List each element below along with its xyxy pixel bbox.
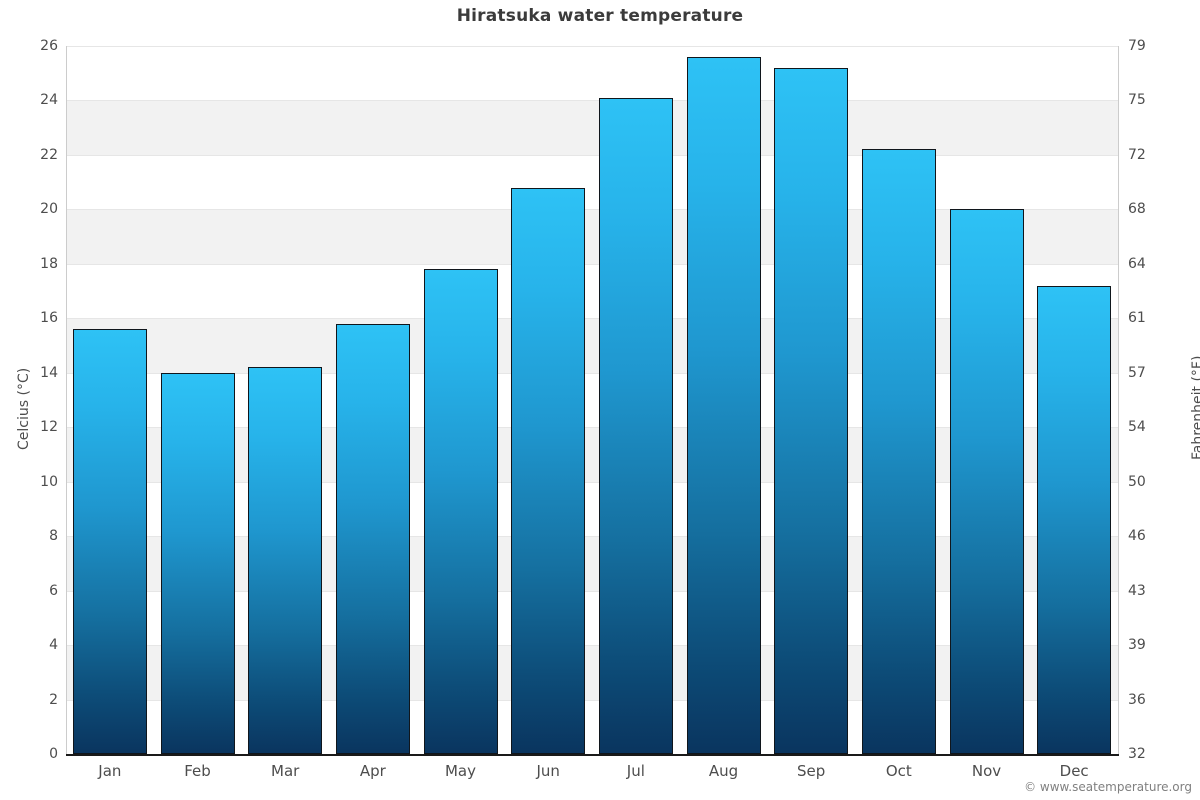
water-temperature-chart: Hiratsuka water temperature 024681012141… bbox=[0, 0, 1200, 800]
copyright-credit: © www.seatemperature.org bbox=[1024, 780, 1192, 794]
y-tick-label-fahrenheit: 64 bbox=[1128, 257, 1146, 271]
y-tick-label-celsius: 4 bbox=[8, 638, 58, 652]
x-tick-label: Oct bbox=[859, 762, 939, 780]
y-tick-label-fahrenheit: 43 bbox=[1128, 584, 1146, 598]
y-tick-label-celsius: 6 bbox=[8, 584, 58, 598]
x-tick-label: Aug bbox=[684, 762, 764, 780]
bar bbox=[161, 373, 235, 754]
y-axis-right-line bbox=[1118, 46, 1119, 755]
x-tick-label: Mar bbox=[245, 762, 325, 780]
bar bbox=[511, 188, 585, 754]
bar bbox=[599, 98, 673, 754]
y-tick-label-fahrenheit: 32 bbox=[1128, 747, 1146, 761]
y-axis-right-title: Fahrenheit (°F) bbox=[1190, 356, 1200, 460]
y-tick-label-fahrenheit: 50 bbox=[1128, 475, 1146, 489]
y-tick-label-celsius: 8 bbox=[8, 529, 58, 543]
x-axis-line bbox=[66, 754, 1119, 756]
x-tick-label: May bbox=[421, 762, 501, 780]
y-tick-label-celsius: 0 bbox=[8, 747, 58, 761]
y-tick-label-fahrenheit: 79 bbox=[1128, 39, 1146, 53]
x-tick-label: Jun bbox=[508, 762, 588, 780]
bar bbox=[774, 68, 848, 754]
x-tick-label: Jul bbox=[596, 762, 676, 780]
bar bbox=[73, 329, 147, 754]
y-tick-label-celsius: 16 bbox=[8, 311, 58, 325]
bar bbox=[862, 149, 936, 754]
y-tick-label-celsius: 24 bbox=[8, 93, 58, 107]
x-tick-label: Apr bbox=[333, 762, 413, 780]
y-tick-label-fahrenheit: 61 bbox=[1128, 311, 1146, 325]
y-tick-label-celsius: 2 bbox=[8, 693, 58, 707]
y-tick-label-fahrenheit: 57 bbox=[1128, 366, 1146, 380]
bar bbox=[248, 367, 322, 754]
x-tick-label: Jan bbox=[70, 762, 150, 780]
y-tick-label-fahrenheit: 75 bbox=[1128, 93, 1146, 107]
x-tick-label: Nov bbox=[947, 762, 1027, 780]
bars-layer bbox=[66, 46, 1118, 754]
y-tick-label-celsius: 10 bbox=[8, 475, 58, 489]
x-tick-label: Sep bbox=[771, 762, 851, 780]
y-tick-label-fahrenheit: 46 bbox=[1128, 529, 1146, 543]
y-tick-label-fahrenheit: 72 bbox=[1128, 148, 1146, 162]
bar bbox=[687, 57, 761, 754]
y-tick-label-celsius: 26 bbox=[8, 39, 58, 53]
y-tick-label-fahrenheit: 68 bbox=[1128, 202, 1146, 216]
y-tick-label-fahrenheit: 39 bbox=[1128, 638, 1146, 652]
x-tick-label: Dec bbox=[1034, 762, 1114, 780]
y-tick-label-celsius: 18 bbox=[8, 257, 58, 271]
y-tick-label-celsius: 22 bbox=[8, 148, 58, 162]
bar bbox=[336, 324, 410, 754]
bar bbox=[424, 269, 498, 754]
y-tick-label-celsius: 20 bbox=[8, 202, 58, 216]
chart-title: Hiratsuka water temperature bbox=[0, 6, 1200, 26]
y-axis-left-title: Celcius (°C) bbox=[16, 368, 32, 450]
x-tick-label: Feb bbox=[158, 762, 238, 780]
bar bbox=[950, 209, 1024, 754]
bar bbox=[1037, 286, 1111, 754]
y-tick-label-fahrenheit: 54 bbox=[1128, 420, 1146, 434]
y-tick-label-fahrenheit: 36 bbox=[1128, 693, 1146, 707]
